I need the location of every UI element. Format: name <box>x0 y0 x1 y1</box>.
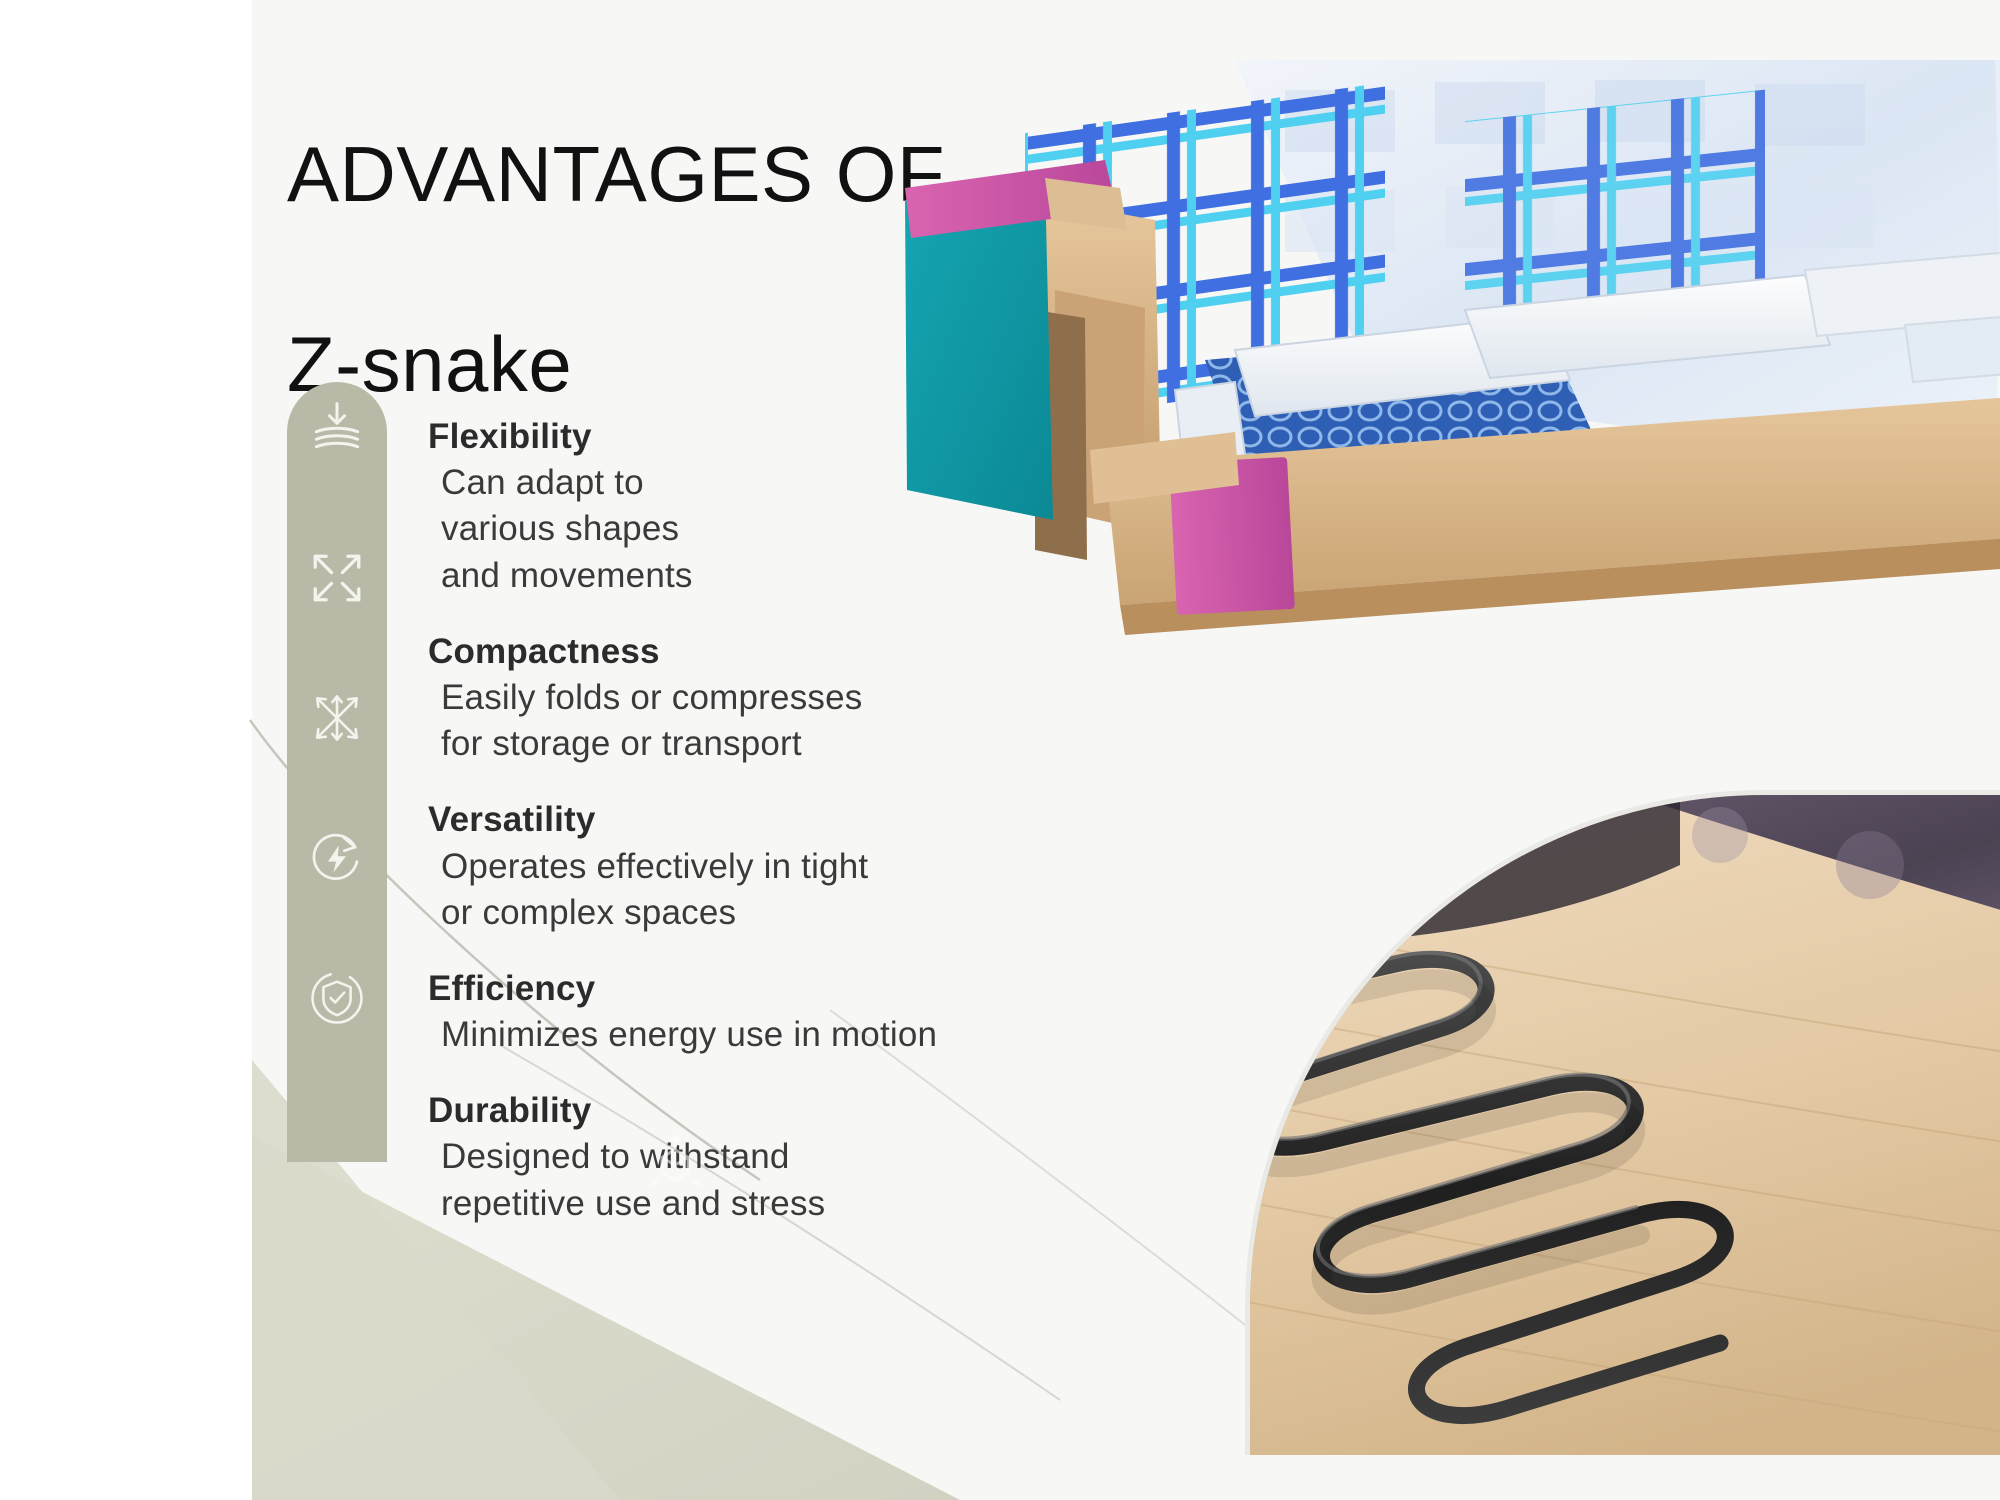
feature-item: Efficiency Minimizes energy use in motio… <box>428 966 1128 1058</box>
feature-description: Minimizes energy use in motion <box>428 1012 1128 1058</box>
sofa-cutaway-photo <box>905 60 2000 720</box>
cube-3d-watermark-icon <box>640 1130 710 1200</box>
infographic-canvas: ADVANTAGES OF Z-snake <box>0 0 2000 1500</box>
compress-arrows-icon <box>287 528 387 628</box>
feature-title: Efficiency <box>428 966 1128 1012</box>
multi-direction-arrows-icon <box>287 668 387 768</box>
compress-layers-icon <box>287 378 387 478</box>
feature-item: Durability Designed to withstand repetit… <box>428 1088 1128 1227</box>
shield-check-icon <box>287 948 387 1048</box>
feature-description: Designed to withstand repetitive use and… <box>428 1134 1128 1226</box>
feature-item: Versatility Operates effectively in tigh… <box>428 797 1128 936</box>
energy-refresh-icon <box>287 808 387 908</box>
feature-title: Durability <box>428 1088 1128 1134</box>
left-white-margin <box>0 0 252 1500</box>
feature-title: Versatility <box>428 797 1128 843</box>
feature-description: Operates effectively in tight or complex… <box>428 844 1128 936</box>
